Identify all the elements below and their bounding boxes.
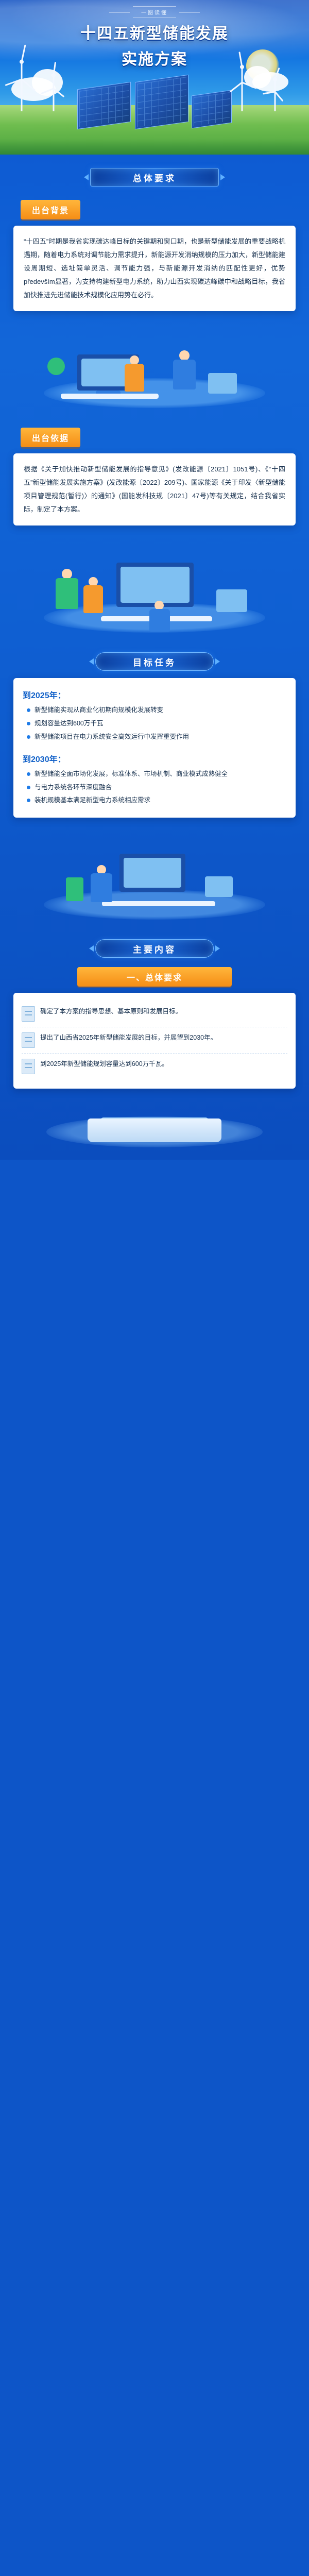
bullet-dot-icon — [27, 722, 30, 725]
goal-item-text: 新型储能全面市场化发展，标准体系、市场机制、商业模式成熟健全 — [35, 769, 228, 780]
document-icon — [22, 1059, 35, 1074]
goals-card: 到2025年： 新型储能实现从商业化初期向规模化发展转变 规划容量达到600万千… — [13, 678, 296, 818]
solar-panel-icon — [77, 82, 131, 130]
bullet-dot-icon — [27, 799, 30, 802]
person-body — [125, 364, 144, 392]
plant-shape — [208, 373, 237, 394]
goal-year-2030: 到2030年： — [23, 752, 286, 765]
illustration-team-screens — [0, 531, 309, 639]
section-header-overall: 总体要求 — [90, 168, 219, 187]
tab-basis: 出台依据 — [21, 428, 80, 447]
monitor-screen-shape — [124, 858, 181, 888]
main-content-card: 确定了本方案的指导思想、基本原则和发展目标。 提出了山西省2025年新型储能发展… — [13, 993, 296, 1089]
desk-shape — [102, 901, 215, 906]
infographic-page: 一图读懂 十四五新型储能发展 实施方案 — [0, 0, 309, 1160]
goal-item-text: 规划容量达到600万千瓦 — [35, 718, 103, 730]
goal-item: 与电力系统各环节深度融合 — [27, 782, 286, 793]
illustration-workstation — [0, 823, 309, 926]
page-title-line1: 十四五新型储能发展 — [80, 25, 229, 42]
goal-item: 新型储能全面市场化发展，标准体系、市场机制、商业模式成熟健全 — [27, 769, 286, 780]
list-item-text: 到2025年新型储能规划容量达到600万千瓦。 — [40, 1059, 168, 1070]
illustration-office-scene — [0, 316, 309, 414]
list-item-text: 提出了山西省2025年新型储能发展的目标，并展望到2030年。 — [40, 1032, 217, 1044]
solar-panel-icon — [135, 75, 188, 130]
book-shape — [88, 1118, 221, 1142]
document-icon — [22, 1006, 35, 1022]
desk-shape — [61, 394, 159, 399]
tab-background: 出台背景 — [21, 200, 80, 219]
person-head — [62, 569, 72, 579]
person-body — [83, 585, 103, 613]
person-body — [149, 609, 170, 632]
shield-icon — [47, 358, 65, 375]
large-screen-display — [121, 567, 190, 603]
basis-body-card: 根据《关于加快推动新型储能发展的指导意见》(发改能源〔2021〕1051号)、《… — [13, 453, 296, 526]
bullet-dot-icon — [27, 772, 30, 776]
goal-item: 新型储能项目在电力系统安全高效运行中发挥重要作用 — [27, 732, 286, 743]
person-body — [173, 360, 196, 389]
hero-banner: 一图读懂 十四五新型储能发展 实施方案 — [0, 0, 309, 155]
hero-ribbon: 一图读懂 — [133, 6, 176, 18]
page-title: 十四五新型储能发展 实施方案 — [0, 21, 309, 69]
bullet-dot-icon — [27, 735, 30, 739]
list-item: 确定了本方案的指导思想、基本原则和发展目标。 — [22, 1001, 287, 1027]
tab-main-subsection: 一、总体要求 — [77, 967, 232, 987]
cabinet-shape — [66, 877, 83, 901]
side-screen-shape — [216, 589, 247, 612]
goal-item-text: 新型储能项目在电力系统安全高效运行中发挥重要作用 — [35, 732, 189, 743]
goal-year-2025: 到2025年： — [23, 688, 286, 701]
background-body-card: “十四五”时期是我省实现碳达峰目标的关键期和窗口期，也是新型储能发展的重要战略机… — [13, 226, 296, 311]
goal-item: 装机规模基本满足新型电力系统相应需求 — [27, 795, 286, 806]
goal-item-text: 装机规模基本满足新型电力系统相应需求 — [35, 795, 150, 806]
goal-item: 规划容量达到600万千瓦 — [27, 718, 286, 730]
list-item-text: 确定了本方案的指导思想、基本原则和发展目标。 — [40, 1006, 182, 1018]
section-header-main: 主要内容 — [95, 939, 214, 958]
illustration-books — [0, 1089, 309, 1150]
solar-panel-icon — [192, 90, 232, 129]
goal-item-text: 新型储能实现从商业化初期向规模化发展转变 — [35, 705, 163, 716]
bullet-dot-icon — [27, 786, 30, 789]
goal-item: 新型储能实现从商业化初期向规模化发展转变 — [27, 705, 286, 716]
goal-item-text: 与电力系统各环节深度融合 — [35, 782, 112, 793]
person-body — [91, 873, 112, 902]
bullet-dot-icon — [27, 708, 30, 712]
document-icon — [22, 1032, 35, 1048]
person-head — [179, 350, 190, 361]
list-item: 提出了山西省2025年新型储能发展的目标，并展望到2030年。 — [22, 1027, 287, 1053]
person-body — [56, 578, 78, 609]
side-screen-shape — [205, 876, 233, 897]
list-item: 到2025年新型储能规划容量达到600万千瓦。 — [22, 1053, 287, 1079]
section-header-goals: 目标任务 — [95, 652, 214, 671]
page-title-line2: 实施方案 — [0, 46, 309, 69]
